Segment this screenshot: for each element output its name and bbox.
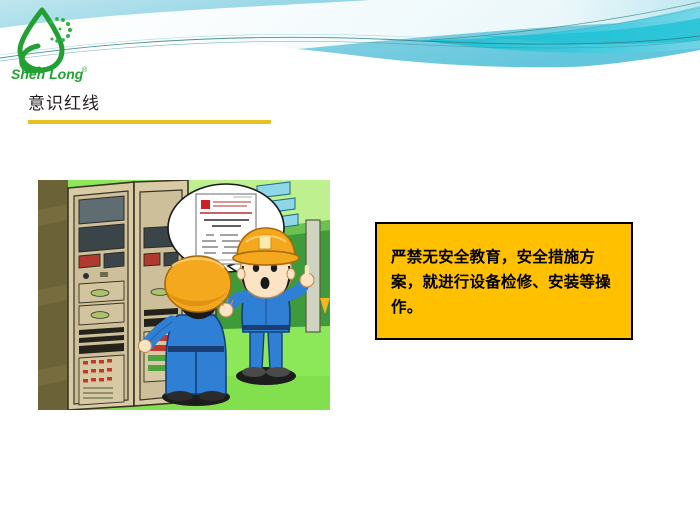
- header-wave-graphic: [0, 0, 700, 92]
- warning-callout-text: 严禁无安全教育，安全措施方案，就进行设备检修、安装等操作。: [377, 244, 631, 319]
- presentation-slide: Shen Long ® 意识红线: [0, 0, 700, 525]
- warning-callout-box: 严禁无安全教育，安全措施方案，就进行设备检修、安装等操作。: [375, 222, 633, 340]
- workplace-safety-cartoon: [38, 180, 330, 410]
- water-drop-icon: Shen Long ®: [8, 6, 96, 84]
- slide-title-block: 意识红线: [28, 92, 328, 124]
- header-wave-banner: [0, 0, 700, 92]
- safety-illustration: [38, 180, 330, 410]
- logo-wordmark: Shen Long: [11, 66, 84, 82]
- registered-mark-icon: ®: [82, 66, 88, 74]
- shen-long-logo: Shen Long ®: [8, 6, 96, 84]
- title-underline-rule: [28, 120, 271, 124]
- page-title: 意识红线: [28, 92, 328, 116]
